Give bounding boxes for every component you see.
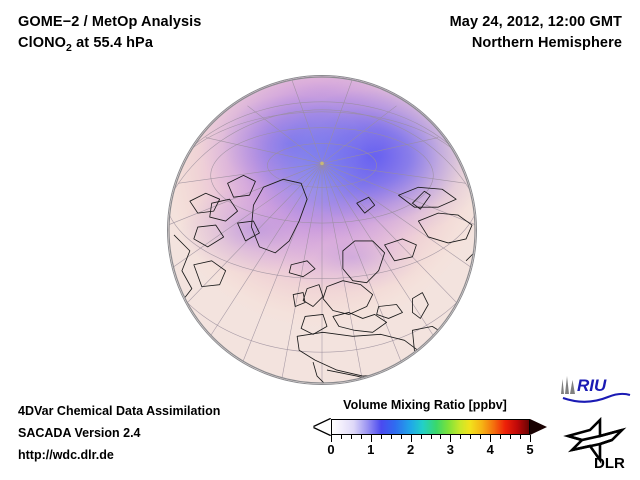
colorbar-high-cap: [530, 419, 547, 435]
colorbar-minor-tick: [341, 435, 342, 439]
colorbar-tick-label: 0: [327, 442, 334, 457]
colorbar-major-tick: [371, 435, 372, 442]
colorbar-major-tick: [331, 435, 332, 442]
colorbar-major-tick: [490, 435, 491, 442]
dlr-bird-icon: [568, 420, 622, 460]
species-level-title: ClONO2 at 55.4 hPa: [18, 33, 201, 59]
hemisphere-label: Northern Hemisphere: [450, 33, 622, 54]
version-label: SACADA Version 2.4: [18, 422, 220, 444]
datetime-label: May 24, 2012, 12:00 GMT: [450, 12, 622, 33]
colorbar-tick-label: 1: [367, 442, 374, 457]
riu-logo-mark: RIU: [558, 374, 632, 404]
colorbar-major-tick: [411, 435, 412, 442]
instrument-title: GOME−2 / MetOp Analysis: [18, 12, 201, 33]
riu-logo: RIU: [558, 374, 632, 404]
colorbar-ticks: [331, 435, 530, 442]
colorbar-minor-tick: [421, 435, 422, 439]
colorbar-minor-tick: [361, 435, 362, 439]
header-right: May 24, 2012, 12:00 GMT Northern Hemisph…: [450, 12, 622, 54]
source-url: http://wdc.dlr.de: [18, 444, 220, 466]
colorbar-minor-tick: [440, 435, 441, 439]
colorbar-minor-tick: [500, 435, 501, 439]
colorbar-minor-tick: [520, 435, 521, 439]
riu-wordmark: RIU: [577, 376, 607, 395]
dlr-wordmark: DLR: [594, 455, 625, 472]
colorbar-minor-tick: [460, 435, 461, 439]
colorbar-tick-labels: 012345: [331, 442, 530, 460]
riu-towers-icon: [561, 376, 575, 394]
colorbar-tick-label: 4: [487, 442, 494, 457]
colorbar-minor-tick: [391, 435, 392, 439]
colorbar-tick-label: 2: [407, 442, 414, 457]
dlr-logo-mark: DLR: [560, 416, 636, 472]
method-label: 4DVar Chemical Data Assimilation: [18, 400, 220, 422]
globe-disc: [167, 75, 477, 385]
colorbar: Volume Mixing Ratio [ppbv] 012345: [300, 398, 550, 438]
colorbar-minor-tick: [510, 435, 511, 439]
colorbar-low-cap: [314, 419, 331, 435]
colorbar-major-tick: [530, 435, 531, 442]
header-left: GOME−2 / MetOp Analysis ClONO2 at 55.4 h…: [18, 12, 201, 59]
footer-text: 4DVar Chemical Data Assimilation SACADA …: [18, 400, 220, 466]
colorbar-strip: 012345: [300, 418, 550, 438]
colorbar-minor-tick: [381, 435, 382, 439]
limb-shading: [168, 76, 476, 384]
colorbar-gradient: [331, 419, 530, 435]
colorbar-minor-tick: [470, 435, 471, 439]
colorbar-tick-label: 3: [447, 442, 454, 457]
figure-canvas: GOME−2 / MetOp Analysis ClONO2 at 55.4 h…: [0, 0, 640, 480]
pressure-level: at 55.4 hPa: [72, 35, 153, 51]
species-name: ClONO: [18, 35, 66, 51]
colorbar-major-tick: [450, 435, 451, 442]
globe-map: [167, 75, 477, 385]
colorbar-minor-tick: [401, 435, 402, 439]
dlr-logo: DLR: [560, 416, 636, 472]
colorbar-minor-tick: [480, 435, 481, 439]
riu-swoosh-icon: [563, 394, 630, 402]
colorbar-minor-tick: [351, 435, 352, 439]
colorbar-tick-label: 5: [526, 442, 533, 457]
colorbar-title: Volume Mixing Ratio [ppbv]: [300, 398, 550, 412]
colorbar-minor-tick: [431, 435, 432, 439]
